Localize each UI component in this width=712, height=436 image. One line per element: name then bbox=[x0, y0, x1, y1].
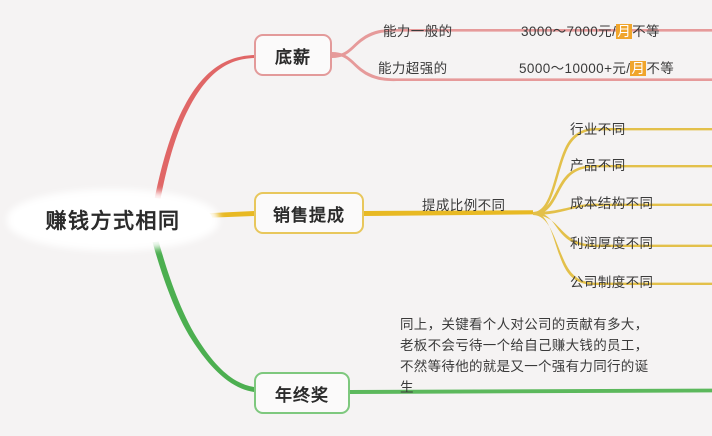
label-profit-margin-text: 利润厚度不同 bbox=[570, 236, 653, 251]
label-product-text: 产品不同 bbox=[570, 158, 626, 173]
label-industry: 行业不同 bbox=[570, 118, 626, 138]
value-strong-highlight: 月 bbox=[630, 61, 646, 76]
note-line-1: 同上，关键看个人对公司的贡献有多大， bbox=[400, 314, 662, 335]
label-ability-average-text: 能力一般的 bbox=[383, 24, 453, 39]
note-line-3: 不然等待他的就是又一个强有力同行的诞 bbox=[400, 356, 662, 377]
label-cost-structure-text: 成本结构不同 bbox=[570, 196, 653, 211]
value-average-prefix: 3000～7000元/ bbox=[521, 24, 616, 39]
branch-node-year-end-bonus-label: 年终奖 bbox=[275, 381, 329, 406]
value-average-highlight: 月 bbox=[616, 24, 632, 39]
label-company-policy-text: 公司制度不同 bbox=[570, 275, 653, 290]
label-commission-ratio-text: 提成比例不同 bbox=[422, 198, 505, 213]
label-company-policy: 公司制度不同 bbox=[570, 271, 653, 291]
branch-node-year-end-bonus[interactable]: 年终奖 bbox=[254, 372, 350, 414]
label-commission-ratio: 提成比例不同 bbox=[422, 194, 505, 214]
connector-root-to-bonus bbox=[150, 231, 254, 392]
branch-node-base-salary[interactable]: 底薪 bbox=[254, 34, 332, 76]
branch-node-sales-commission[interactable]: 销售提成 bbox=[254, 192, 364, 234]
note-line-2: 老板不会亏待一个给自己赚大钱的员工， bbox=[400, 335, 662, 356]
value-strong-suffix: 不等 bbox=[646, 61, 674, 76]
branch-node-base-salary-label: 底薪 bbox=[275, 43, 311, 68]
root-node[interactable]: 赚钱方式相同 bbox=[14, 196, 212, 244]
label-cost-structure: 成本结构不同 bbox=[570, 192, 653, 212]
root-node-label: 赚钱方式相同 bbox=[46, 205, 181, 235]
label-ability-strong-text: 能力超强的 bbox=[378, 61, 448, 76]
label-ability-strong-value: 5000～10000+元/月不等 bbox=[519, 57, 674, 77]
branch-node-sales-commission-label: 销售提成 bbox=[273, 201, 345, 226]
note-year-end-bonus: 同上，关键看个人对公司的贡献有多大， 老板不会亏待一个给自己赚大钱的员工， 不然… bbox=[400, 314, 662, 398]
label-ability-average: 能力一般的 bbox=[383, 20, 453, 40]
value-strong-prefix: 5000～10000+元/ bbox=[519, 61, 630, 76]
label-ability-average-value: 3000～7000元/月不等 bbox=[521, 20, 660, 40]
value-average-suffix: 不等 bbox=[632, 24, 660, 39]
label-profit-margin: 利润厚度不同 bbox=[570, 232, 653, 252]
label-ability-strong: 能力超强的 bbox=[378, 57, 448, 77]
label-industry-text: 行业不同 bbox=[570, 122, 626, 137]
label-product: 产品不同 bbox=[570, 154, 626, 174]
note-line-4: 生 bbox=[400, 377, 662, 398]
